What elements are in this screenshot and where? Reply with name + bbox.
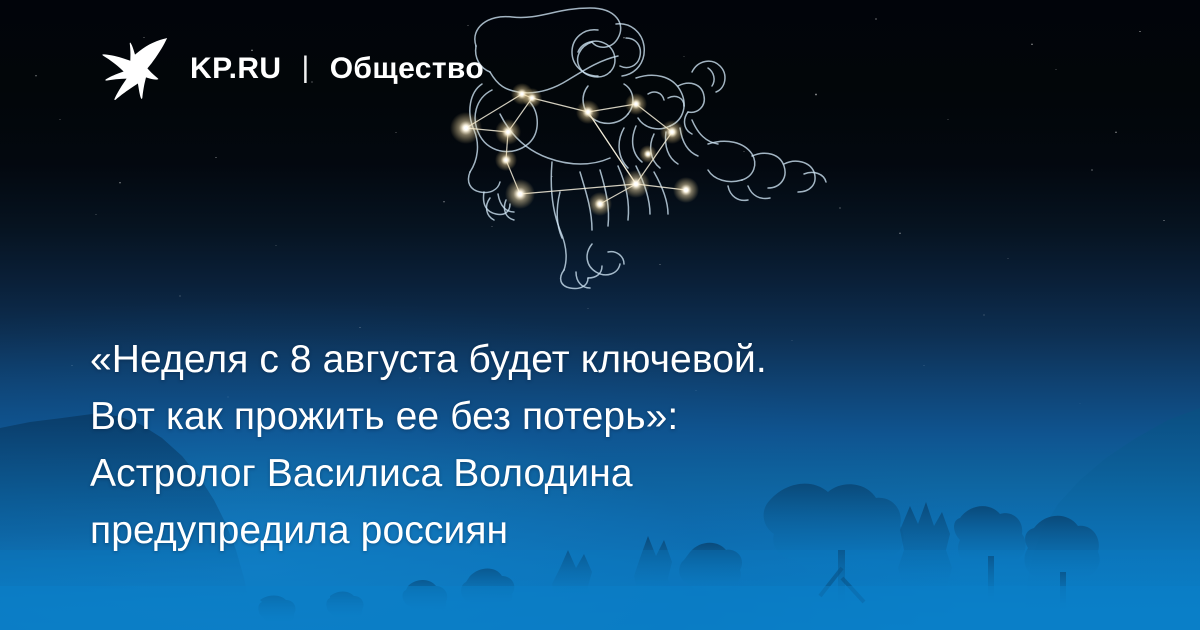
headline-line-3: Астролог Василиса Володина bbox=[90, 445, 1050, 502]
header: KP.RU|Общество bbox=[96, 36, 484, 102]
brand-name[interactable]: KP.RU bbox=[190, 52, 281, 85]
brand-separator: | bbox=[301, 53, 309, 83]
brand-bar: KP.RU|Общество bbox=[190, 54, 484, 84]
headline-line-4: предупредила россиян bbox=[90, 502, 1050, 559]
headline-line-2: Вот как прожить ее без потерь»: bbox=[90, 388, 1050, 445]
page-title: «Неделя с 8 августа будет ключевой. Вот … bbox=[90, 331, 1050, 559]
swallow-bird-logo-icon[interactable] bbox=[96, 36, 168, 102]
article-preview-card: KP.RU|Общество «Неделя с 8 августа будет… bbox=[0, 0, 1200, 630]
rubric-label[interactable]: Общество bbox=[330, 52, 484, 85]
headline-line-1: «Неделя с 8 августа будет ключевой. bbox=[90, 331, 1050, 388]
